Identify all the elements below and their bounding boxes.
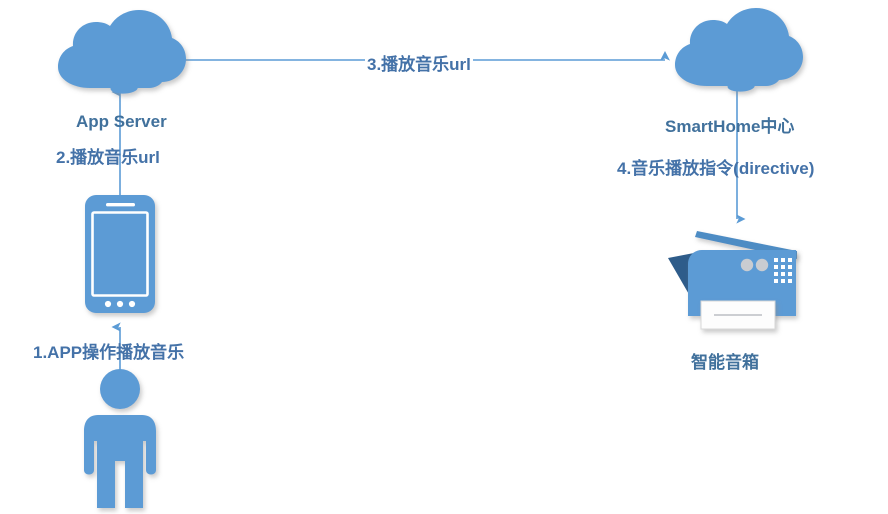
edge-label-step4: 4.音乐播放指令(directive) <box>617 154 814 179</box>
node-label-app-server: App Server <box>76 112 167 132</box>
node-label-smarthome: SmartHome中心 <box>665 112 794 137</box>
diagram-canvas: App Server SmartHome中心 智能音箱 1.APP操作播放音乐 … <box>0 0 888 514</box>
node-smart-speaker[interactable] <box>668 231 797 329</box>
edge-label-step3: 3.播放音乐url <box>365 50 473 75</box>
node-person[interactable] <box>84 369 156 508</box>
edge-label-step2: 2.播放音乐url <box>56 143 160 168</box>
node-smarthome[interactable] <box>675 8 803 92</box>
edge-label-step1: 1.APP操作播放音乐 <box>33 338 184 363</box>
node-app-server[interactable] <box>58 10 186 94</box>
node-phone[interactable] <box>85 195 155 313</box>
node-label-smart-speaker: 智能音箱 <box>691 348 759 373</box>
diagram-graphics <box>0 0 888 514</box>
